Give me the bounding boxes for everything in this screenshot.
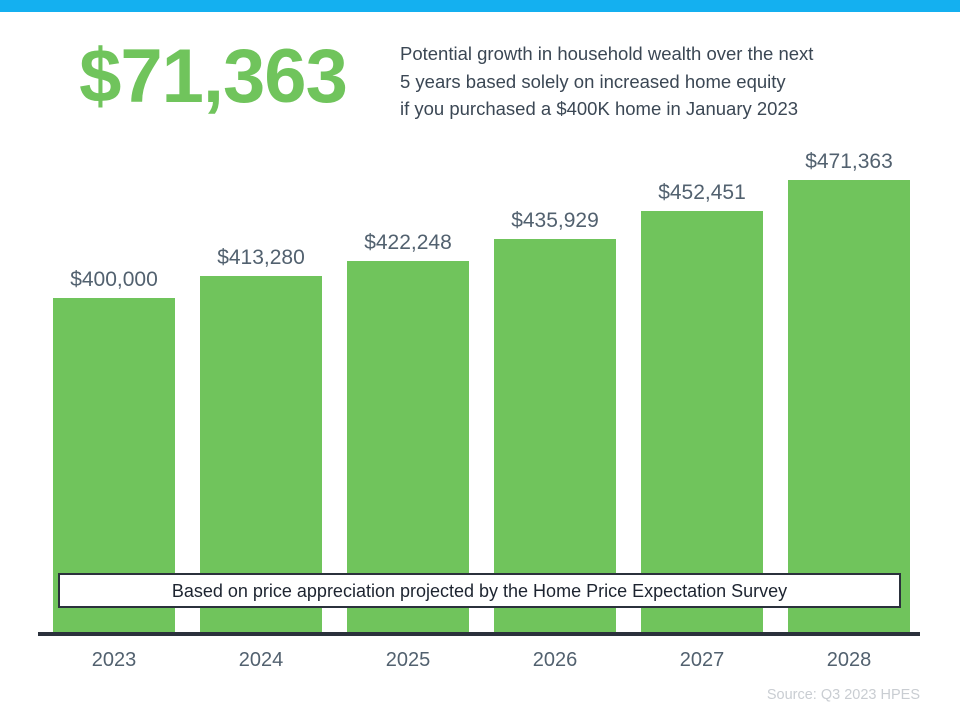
bar-value-label: $435,929: [480, 210, 630, 231]
x-tick-2023: 2023: [53, 648, 175, 672]
bar-value-label: $471,363: [774, 151, 924, 172]
bar-value-label: $422,248: [333, 232, 483, 253]
callout-box: Based on price appreciation projected by…: [58, 573, 901, 608]
x-tick-2025: 2025: [347, 648, 469, 672]
x-axis-line: [38, 632, 920, 636]
callout-text: Based on price appreciation projected by…: [172, 582, 787, 600]
x-tick-2027: 2027: [641, 648, 763, 672]
x-tick-2028: 2028: [788, 648, 910, 672]
bar-value-label: $413,280: [186, 247, 336, 268]
infographic-root: $71,363 Potential growth in household we…: [0, 0, 960, 720]
bar-chart: $400,000 $413,280 $422,248 $435,929 $452…: [0, 0, 960, 720]
bar-value-label: $452,451: [627, 182, 777, 203]
bar-2028: [788, 180, 910, 634]
x-tick-2024: 2024: [200, 648, 322, 672]
bar-value-label: $400,000: [39, 269, 189, 290]
source-attribution: Source: Q3 2023 HPES: [767, 686, 920, 704]
bar-2027: [641, 211, 763, 634]
x-tick-2026: 2026: [494, 648, 616, 672]
